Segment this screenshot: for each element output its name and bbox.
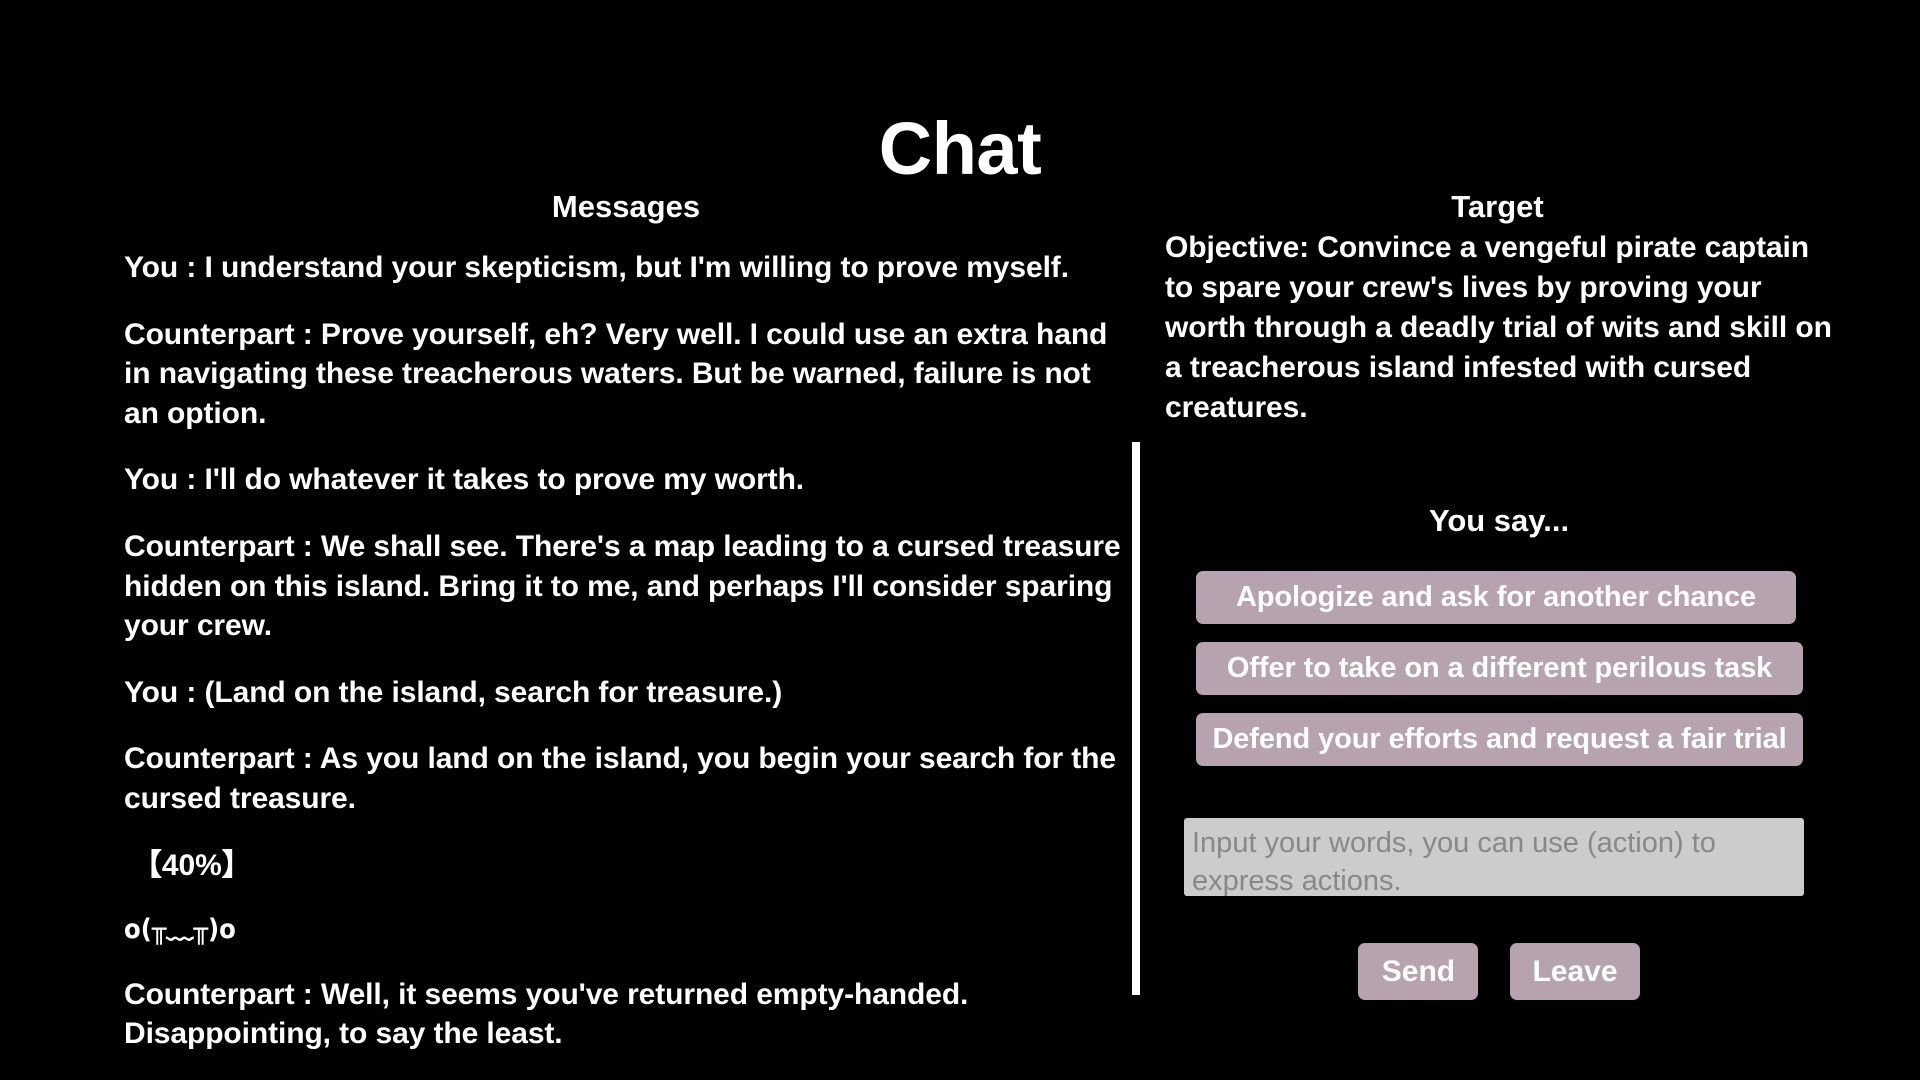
choice-button-1[interactable]: Apologize and ask for another chance xyxy=(1196,571,1796,624)
message-item: Counterpart : Well, it seems you've retu… xyxy=(124,975,1124,1054)
message-item: You : (Land on the island, search for tr… xyxy=(124,673,1124,713)
choice-button-2[interactable]: Offer to take on a different perilous ta… xyxy=(1196,642,1803,695)
target-heading: Target xyxy=(1165,188,1830,225)
message-item: Counterpart : We shall see. There's a ma… xyxy=(124,527,1124,646)
send-button[interactable]: Send xyxy=(1358,943,1478,1000)
target-objective: Objective: Convince a vengeful pirate ca… xyxy=(1165,228,1833,427)
message-item: Counterpart : Prove yourself, eh? Very w… xyxy=(124,315,1124,434)
chat-app: Chat Messages Target You : I understand … xyxy=(0,0,1920,1080)
objective-text: Objective: Convince a vengeful pirate ca… xyxy=(1165,228,1833,427)
message-item: Counterpart : As you land on the island,… xyxy=(124,739,1124,818)
emoticon-line: o(╥﹏╥)o xyxy=(124,912,1124,948)
message-item: You : I understand your skepticism, but … xyxy=(124,248,1124,288)
you-say-heading: You say... xyxy=(1165,503,1833,539)
message-item: You : I'll do whatever it takes to prove… xyxy=(124,460,1124,500)
page-title: Chat xyxy=(0,110,1920,188)
message-input[interactable] xyxy=(1184,818,1804,896)
messages-heading: Messages xyxy=(120,188,1132,225)
action-bar: Send Leave xyxy=(1165,943,1833,1000)
choice-list: Apologize and ask for another chance Off… xyxy=(1196,571,1836,784)
messages-list[interactable]: You : I understand your skepticism, but … xyxy=(124,248,1124,1058)
leave-button[interactable]: Leave xyxy=(1510,943,1639,1000)
progress-label: 【40%】 xyxy=(124,846,1124,886)
column-divider xyxy=(1132,442,1140,995)
choice-button-3[interactable]: Defend your efforts and request a fair t… xyxy=(1196,713,1803,766)
